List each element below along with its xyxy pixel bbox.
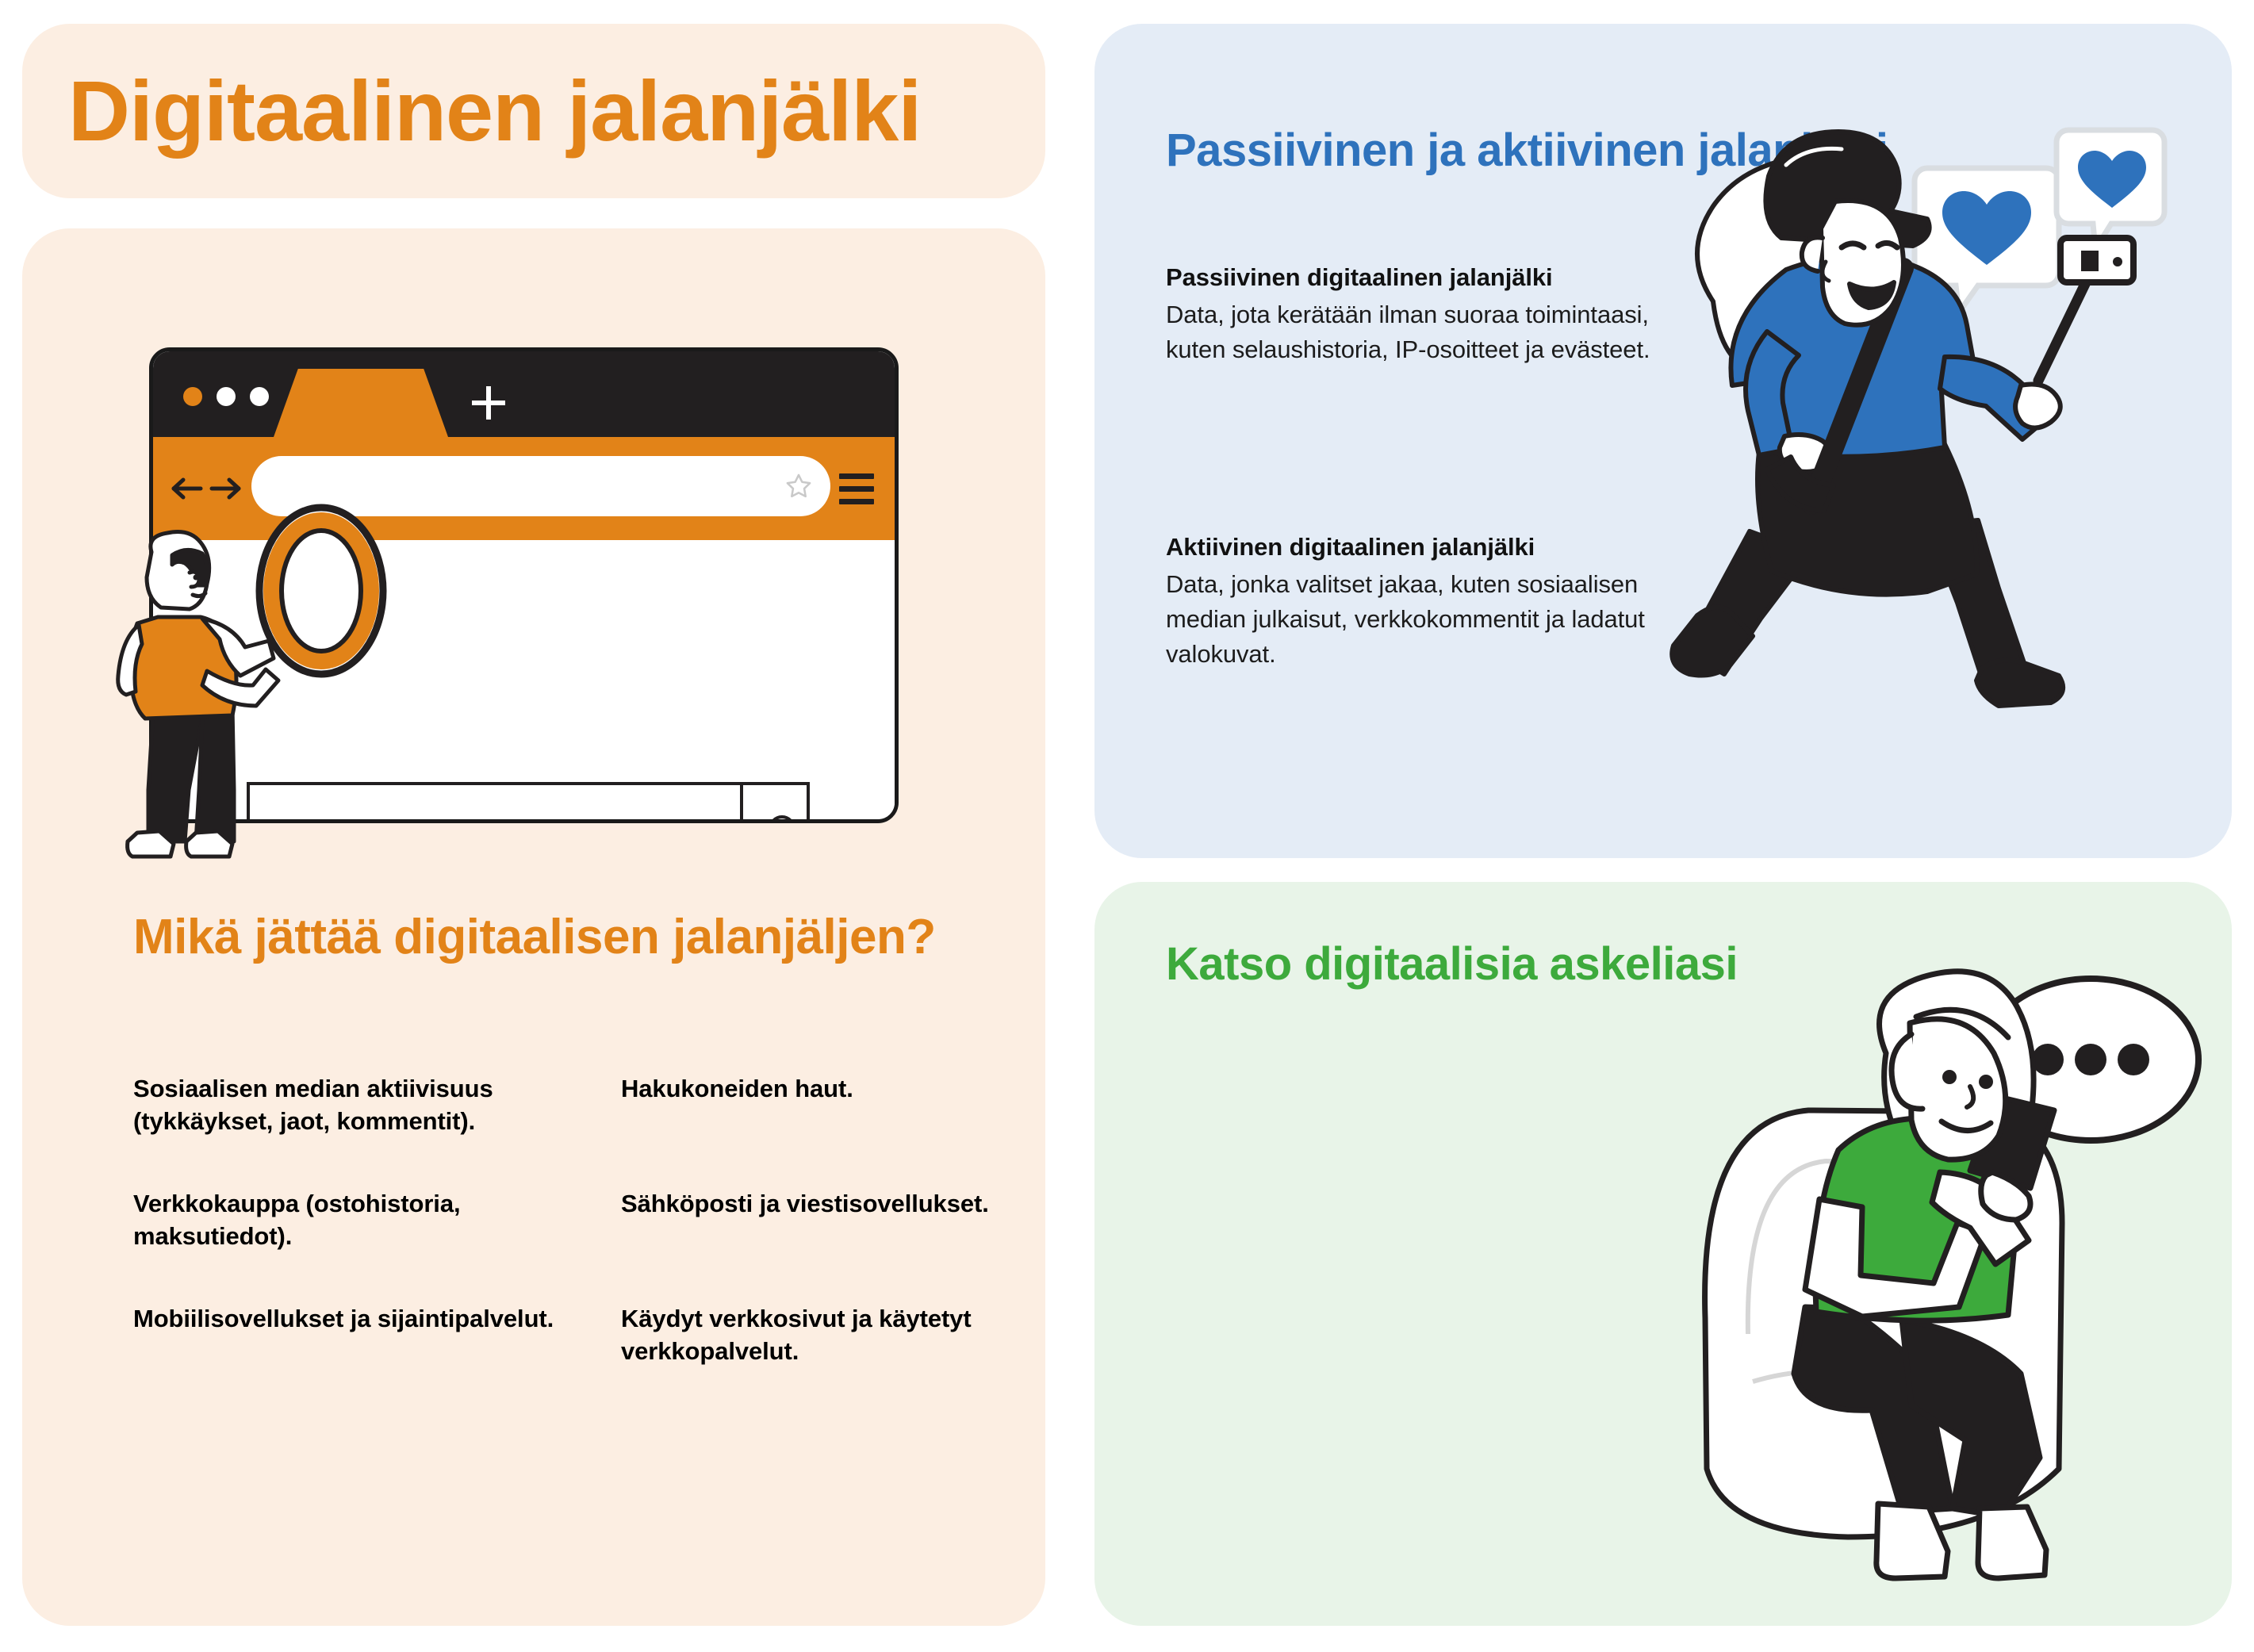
block-title: Passiivinen digitaalinen jalanjälki bbox=[1166, 262, 1673, 293]
reaction-bubble-right bbox=[2057, 130, 2164, 249]
hamburger-menu-icon[interactable] bbox=[839, 473, 874, 504]
person-with-magnifier-illustration bbox=[113, 528, 328, 869]
list-item: Hakukoneiden haut. bbox=[621, 1073, 1002, 1138]
left-subheading: Mikä jättää digitaalisen jalanjäljen? bbox=[133, 909, 942, 966]
title-banner: Digitaalinen jalanjälki bbox=[22, 24, 1045, 198]
window-close-dot-icon[interactable] bbox=[183, 387, 202, 406]
woman-in-armchair-illustration bbox=[1650, 961, 2221, 1596]
list-item: Verkkokauppa (ostohistoria, maksutiedot)… bbox=[133, 1188, 621, 1253]
browser-illustration bbox=[113, 324, 954, 879]
search-divider bbox=[740, 785, 743, 823]
search-icon[interactable] bbox=[764, 811, 807, 823]
block-body: Data, jonka valitset jakaa, kuten sosiaa… bbox=[1166, 567, 1673, 672]
block-title: Aktiivinen digitaalinen jalanjälki bbox=[1166, 531, 1673, 563]
list-item: Mobiilisovellukset ja sijaintipalvelut. bbox=[133, 1303, 621, 1368]
passive-footprint-block: Passiivinen digitaalinen jalanjälki Data… bbox=[1166, 262, 1673, 367]
active-footprint-block: Aktiivinen digitaalinen jalanjälki Data,… bbox=[1166, 531, 1673, 672]
new-tab-plus-icon[interactable] bbox=[472, 386, 505, 420]
browser-tab[interactable] bbox=[274, 369, 448, 437]
digital-footprint-sources-list: Sosiaalisen median aktiivisuus (tykkäyks… bbox=[133, 1073, 1014, 1367]
window-maximize-dot-icon[interactable] bbox=[250, 387, 269, 406]
woman-with-selfie-stick-illustration bbox=[1666, 119, 2221, 746]
window-minimize-dot-icon[interactable] bbox=[217, 387, 236, 406]
block-body: Data, jota kerätään ilman suoraa toimint… bbox=[1166, 297, 1673, 367]
navigation-arrows[interactable] bbox=[171, 475, 242, 502]
page-title: Digitaalinen jalanjälki bbox=[22, 68, 921, 154]
page-search-field[interactable] bbox=[247, 782, 810, 823]
passive-active-panel: Passiivinen ja aktiivinen jalanjälki Pas… bbox=[1094, 24, 2232, 858]
list-item: Käydyt verkkosivut ja käytetyt verkkopal… bbox=[621, 1303, 1002, 1368]
left-content-panel: Mikä jättää digitaalisen jalanjäljen? So… bbox=[22, 228, 1045, 1626]
bookmark-star-icon[interactable] bbox=[784, 472, 813, 500]
list-item: Sosiaalisen median aktiivisuus (tykkäyks… bbox=[133, 1073, 621, 1138]
browser-titlebar bbox=[153, 351, 895, 437]
list-item: Sähköposti ja viestisovellukset. bbox=[621, 1188, 1002, 1253]
watch-your-steps-panel: Katso digitaalisia askeliasi Huomioi, mi… bbox=[1094, 882, 2232, 1626]
